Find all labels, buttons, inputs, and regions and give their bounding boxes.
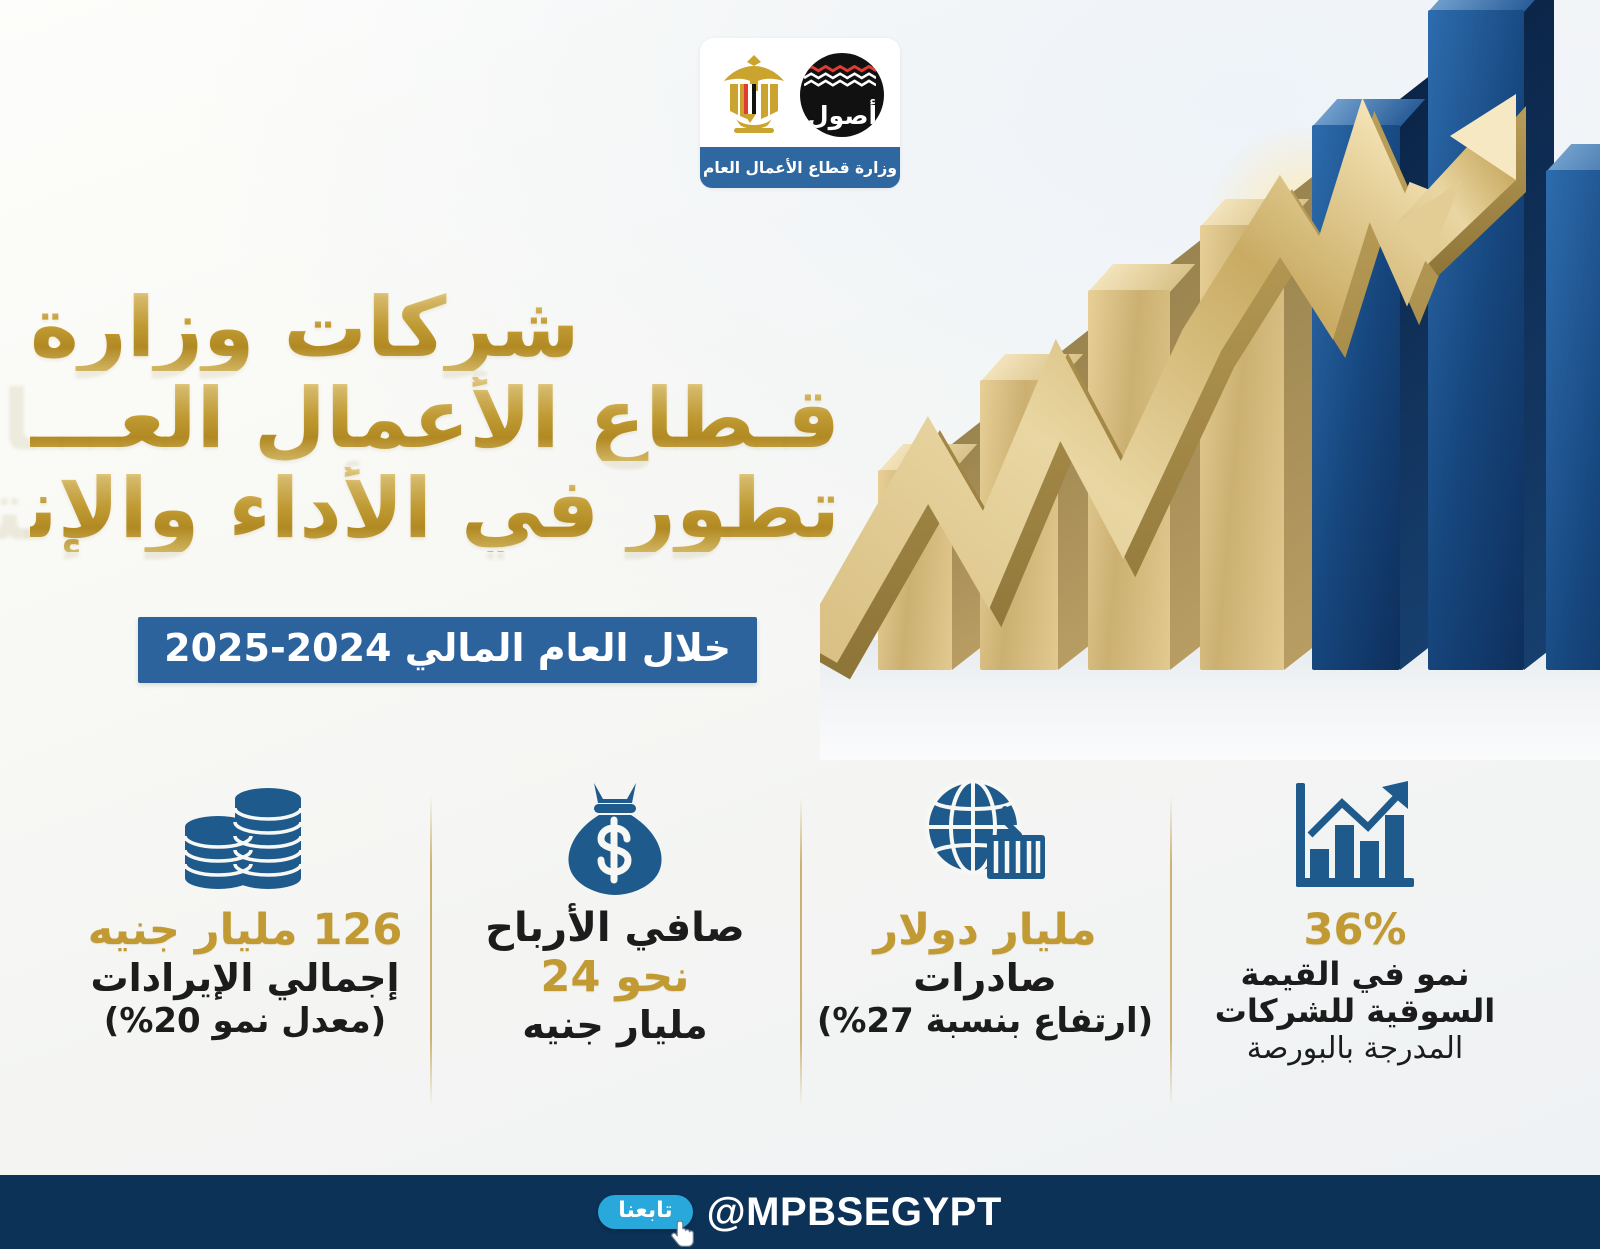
hand-pointer-icon	[671, 1219, 697, 1249]
art-gold-trend-arrow	[820, 40, 1570, 680]
osoul-circle-logo-icon: أصول	[800, 53, 884, 137]
ministry-logo: أصول	[700, 38, 900, 188]
stat-label-market-value-3: المدرجة بالبورصة	[1184, 1031, 1526, 1066]
logo-banner: وزارة قطاع الأعمال العام	[700, 147, 900, 188]
stat-label-net-profits: صافي الأرباح	[444, 905, 786, 952]
stat-text-revenues: 126 مليار جنيه إجمالي الإيرادات (معدل نم…	[74, 905, 416, 1041]
follow-button[interactable]: تابعنا	[598, 1195, 692, 1229]
coins-stack-icon	[176, 770, 314, 905]
osoul-wordmark: أصول	[800, 103, 884, 128]
page-title: شركات وزارة قـطاع الأعمال العـــام تطور …	[30, 286, 840, 552]
stat-card-exports: مليار دولار صادرات (ارتفاع بنسبة 27%)	[800, 770, 1170, 1041]
money-bag-icon	[556, 770, 674, 905]
globe-container-icon	[919, 770, 1051, 905]
social-footer-bar: تابعنا @MPBSEGYPT	[0, 1175, 1600, 1249]
stat-value-market-value: 36%	[1184, 905, 1526, 956]
headline-line-1: شركات وزارة	[30, 286, 840, 371]
stat-card-net-profits: صافي الأرباح نحو 24 مليار جنيه	[430, 770, 800, 1048]
egypt-eagle-icon	[716, 51, 792, 139]
stat-unit-net-profits: مليار جنيه	[444, 1003, 786, 1048]
stat-label-revenues: إجمالي الإيرادات	[74, 956, 416, 1001]
stat-card-revenues: 126 مليار جنيه إجمالي الإيرادات (معدل نم…	[60, 770, 430, 1041]
stat-label-exports: صادرات	[814, 956, 1156, 1001]
infographic-canvas: أصول	[0, 0, 1600, 1249]
stat-text-net-profits: صافي الأرباح نحو 24 مليار جنيه	[444, 905, 786, 1048]
stat-card-market-value: 36% نمو في القيمة السوقية للشركات المدرج…	[1170, 770, 1540, 1067]
headline-line-3: تطور في الأداء والإنتاج	[30, 467, 840, 552]
hero-3d-bar-chart-illustration	[820, 0, 1600, 760]
stat-label-market-value-1: نمو في القيمة	[1184, 956, 1526, 994]
fiscal-year-text: خلال العام المالي 2024-2025	[164, 626, 731, 670]
stat-value-revenues: 126 مليار جنيه	[74, 905, 416, 956]
fiscal-year-banner: خلال العام المالي 2024-2025	[138, 617, 757, 683]
follow-button-label: تابعنا	[618, 1198, 672, 1223]
bar-chart-arrow-icon	[1290, 770, 1420, 905]
stat-note-revenues: (معدل نمو 20%)	[74, 1001, 416, 1041]
logo-emblems: أصول	[716, 38, 884, 147]
osoul-wave-pattern	[804, 65, 876, 91]
stat-note-exports: (ارتفاع بنسبة 27%)	[814, 1001, 1156, 1041]
stat-value-exports: مليار دولار	[814, 905, 1156, 956]
stat-text-exports: مليار دولار صادرات (ارتفاع بنسبة 27%)	[814, 905, 1156, 1041]
headline-line-2: قـطاع الأعمال العـــام	[30, 377, 840, 462]
logo-banner-text: وزارة قطاع الأعمال العام	[703, 159, 897, 177]
stats-row: 126 مليار جنيه إجمالي الإيرادات (معدل نم…	[0, 770, 1600, 1165]
social-handle: @MPBSEGYPT	[707, 1190, 1002, 1235]
stat-value-net-profits: نحو 24	[444, 952, 786, 1003]
stat-text-market-value: 36% نمو في القيمة السوقية للشركات المدرج…	[1184, 905, 1526, 1067]
stat-label-market-value-2: السوقية للشركات	[1184, 993, 1526, 1031]
